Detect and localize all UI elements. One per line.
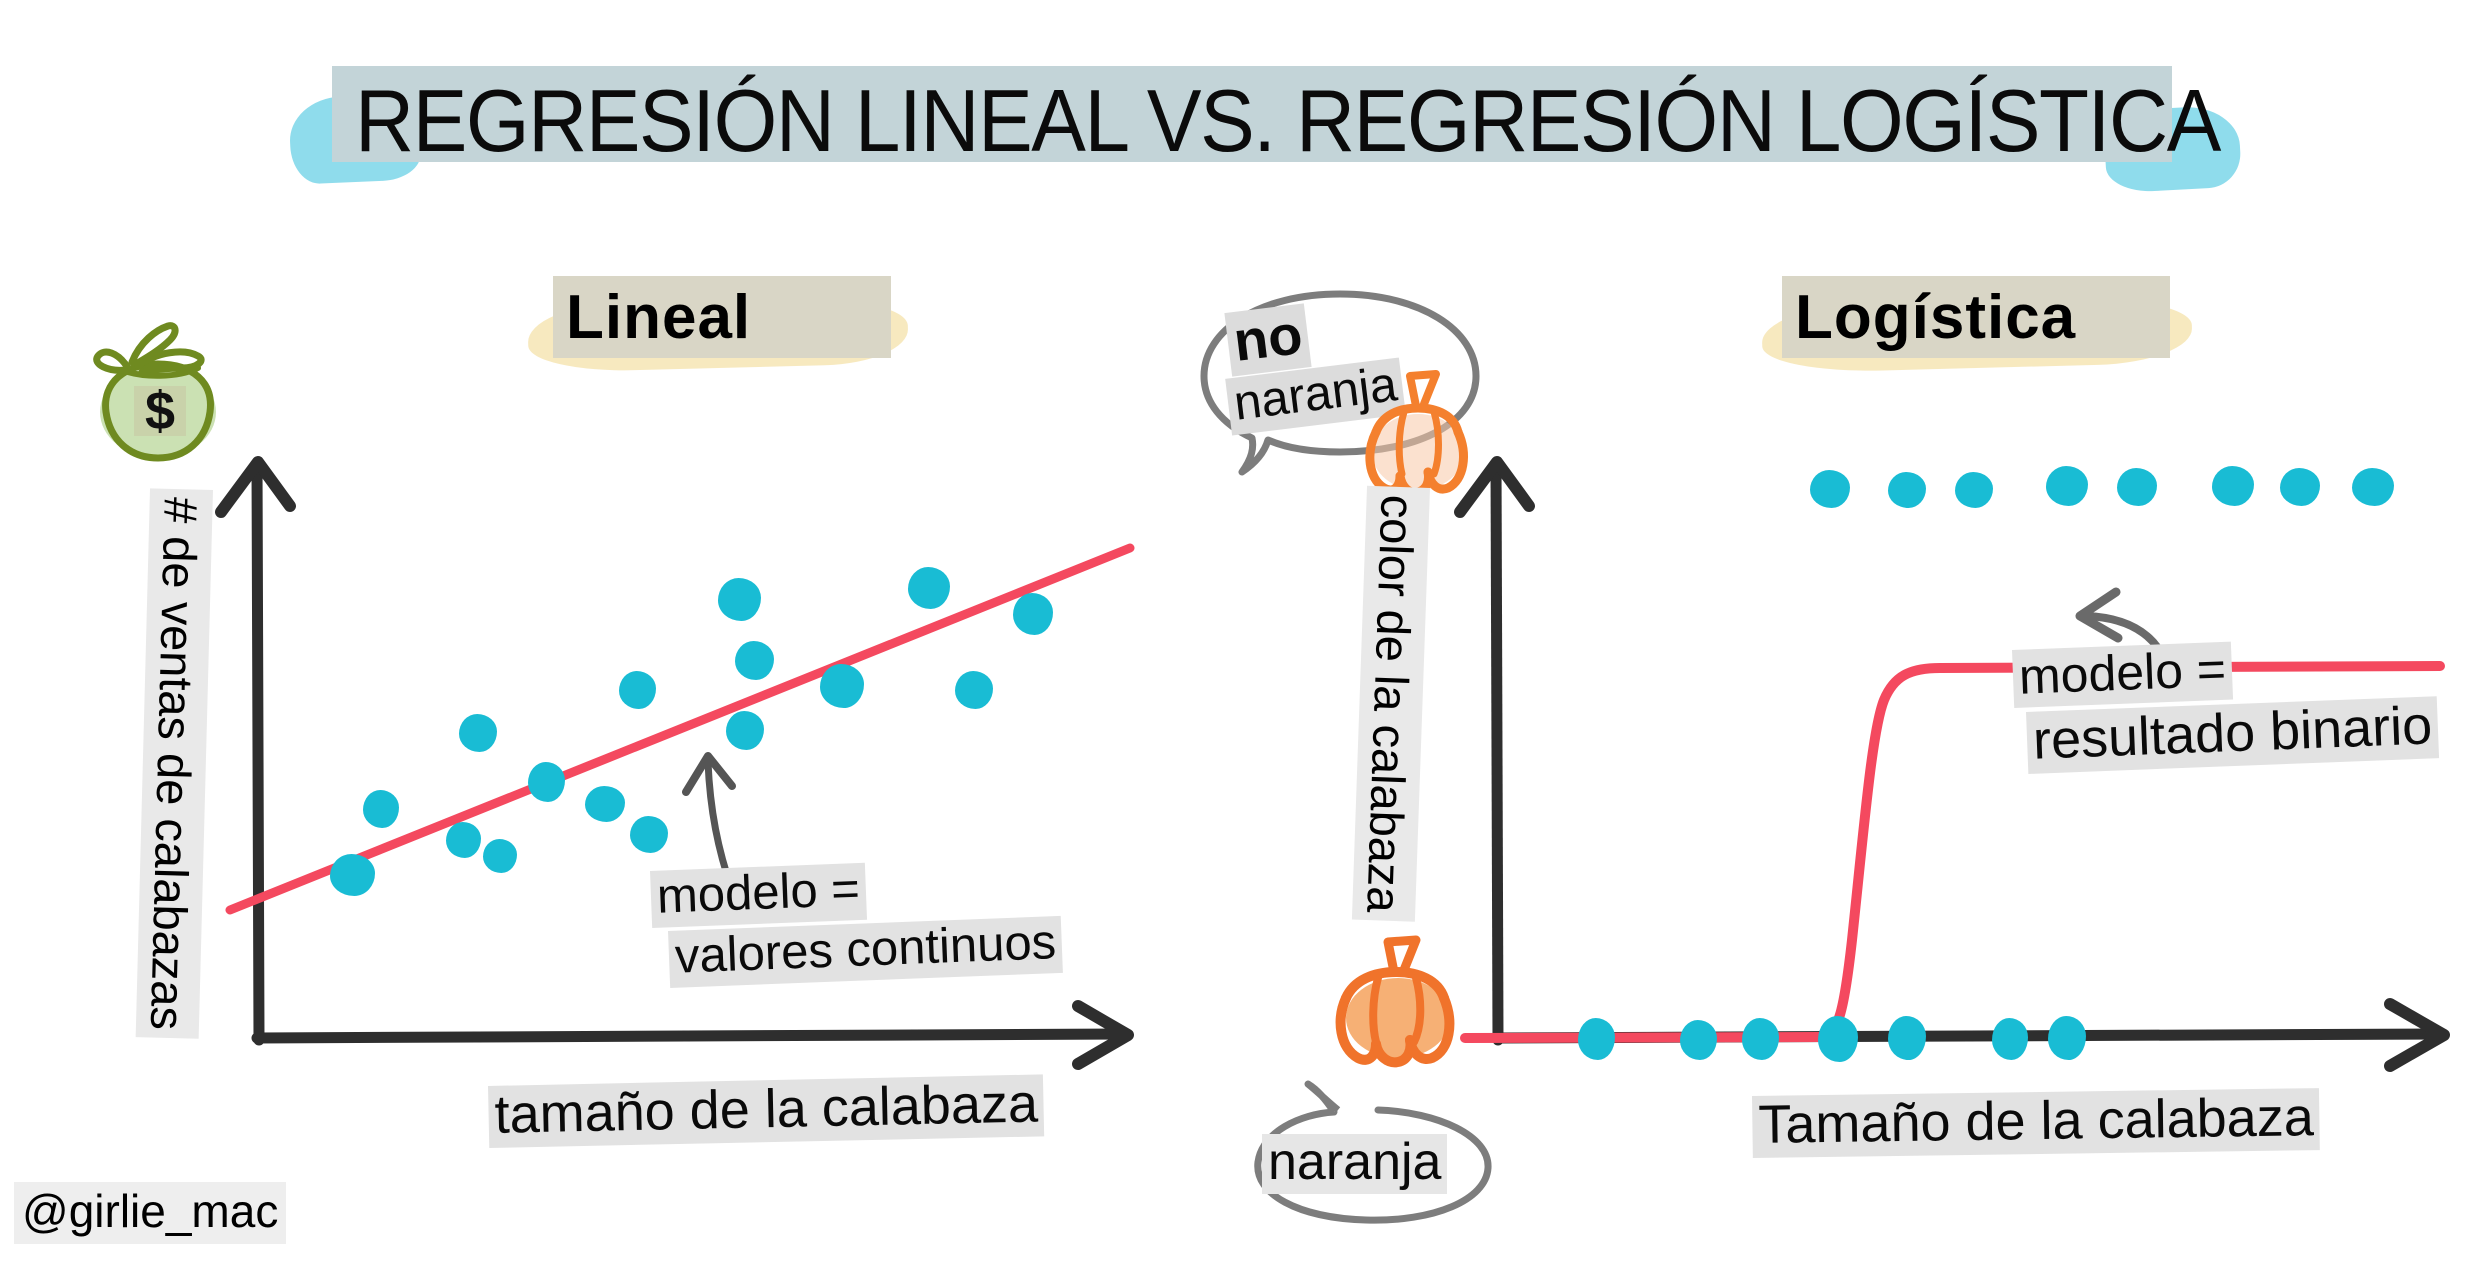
scatter-dot	[483, 839, 517, 873]
scatter-dot	[585, 786, 625, 822]
money-symbol: $	[145, 381, 175, 441]
scatter-dot	[1955, 472, 1993, 508]
scatter-dot	[2046, 466, 2088, 506]
scatter-dot	[1888, 1016, 1926, 1060]
scatter-dot	[735, 641, 774, 680]
left-x-axis-label: tamaño de la calabaza	[488, 1074, 1045, 1148]
scatter-dot	[459, 714, 497, 752]
scatter-dot	[1742, 1018, 1779, 1060]
scatter-dot	[1578, 1018, 1615, 1060]
watermark-handle: @girlie_mac	[14, 1182, 286, 1244]
right-y-axis-label: color de la calabaza	[1352, 486, 1430, 922]
scatter-dot	[1810, 470, 1850, 508]
scatter-dot	[1013, 593, 1053, 635]
scatter-dot	[955, 671, 993, 709]
right-x-axis-label: Tamaño de la calabaza	[1752, 1088, 2320, 1158]
bottom-bubble-label: naranja	[1262, 1134, 1447, 1194]
page-title: REGRESIÓN LINEAL VS. REGRESIÓN LOGÍSTICA	[355, 70, 2066, 172]
scatter-dot	[2048, 1016, 2086, 1060]
right-annotation-line1: modelo =	[2012, 642, 2233, 708]
scatter-dot	[908, 567, 950, 609]
scatter-dot	[1888, 472, 1926, 508]
scatter-dot	[1680, 1020, 1717, 1060]
scatter-dot	[446, 822, 481, 858]
scatter-dot	[2117, 468, 2157, 506]
infographic-canvas: REGRESIÓN LINEAL VS. REGRESIÓN LOGÍSTICA…	[0, 0, 2481, 1262]
left-panel-heading: Lineal	[566, 282, 751, 353]
scatter-dot	[2212, 466, 2254, 506]
scatter-dot	[820, 664, 864, 708]
left-annotation-line1: modelo =	[650, 863, 867, 928]
scatter-dot	[528, 762, 565, 802]
scatter-dot	[2352, 468, 2394, 506]
scatter-dot	[1992, 1018, 2028, 1060]
scatter-dot	[718, 578, 761, 621]
scatter-dot	[1818, 1016, 1858, 1062]
right-panel-heading: Logística	[1795, 282, 2076, 353]
scatter-dot	[363, 790, 399, 828]
scatter-dot	[330, 854, 375, 896]
top-bubble-line1: no	[1224, 303, 1312, 376]
scatter-dot	[2280, 468, 2320, 506]
